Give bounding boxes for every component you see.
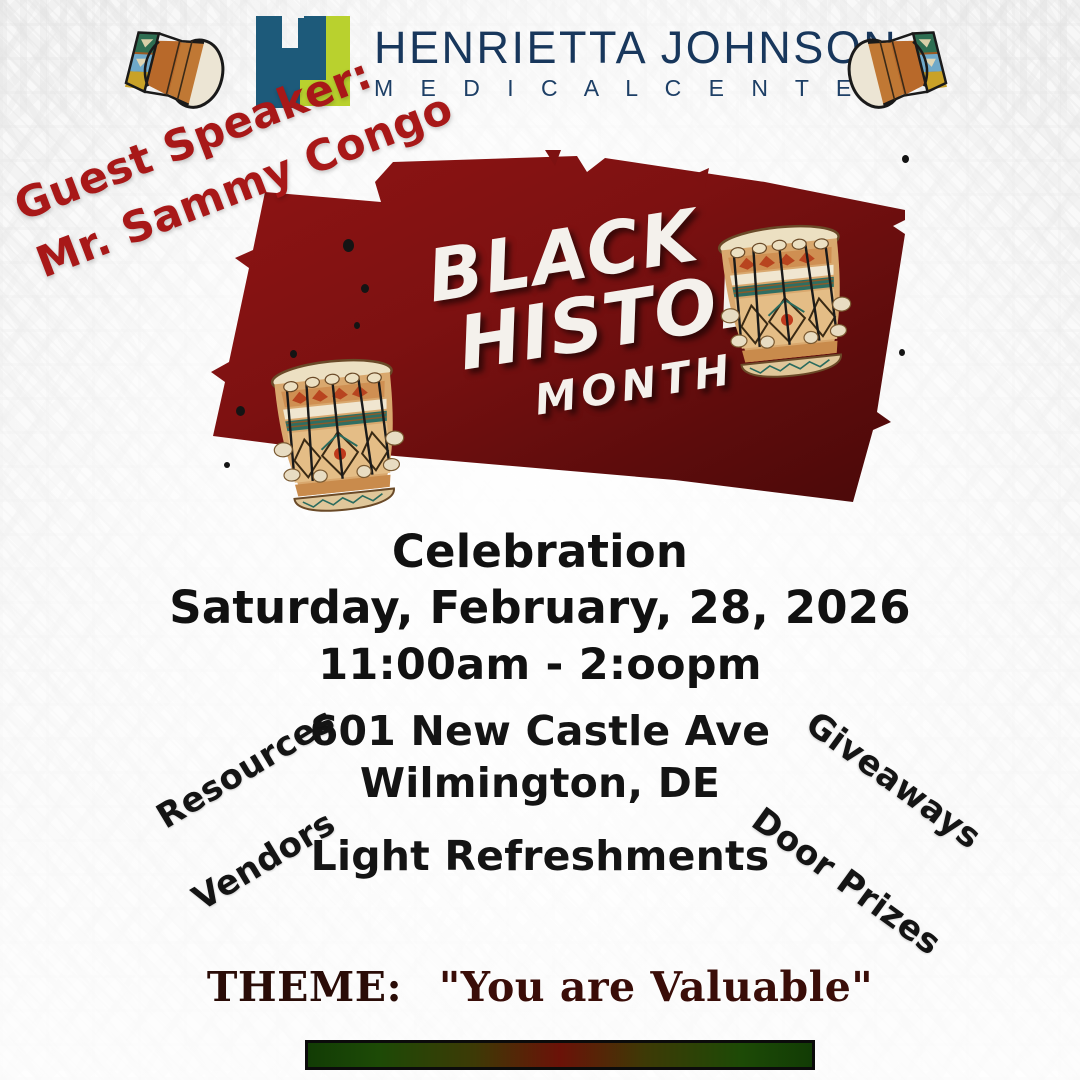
- tag-door-prizes: Door Prizes: [744, 800, 948, 964]
- bottom-accent-bar: [305, 1040, 815, 1070]
- logo-organization-subtitle: M E D I C A L C E N T E R: [374, 77, 906, 100]
- ornate-drum-icon: [250, 344, 426, 525]
- refreshments-note: Light Refreshments: [0, 832, 1080, 880]
- theme-row: THEME: "You are Valuable": [0, 963, 1080, 1011]
- logo-organization-name: HENRIETTA JOHNSON: [374, 25, 906, 70]
- theme-quote: "You are Valuable": [439, 963, 873, 1011]
- paint-splatter-dot: [224, 462, 230, 468]
- event-heading: Celebration: [0, 528, 1080, 577]
- address-street: 601 New Castle Ave: [0, 705, 1080, 757]
- event-details: Celebration Saturday, February, 28, 2026…: [0, 528, 1080, 692]
- paint-splatter-dot: [236, 406, 245, 416]
- paint-splatter-dot: [343, 239, 354, 252]
- paint-splatter-dot: [354, 322, 360, 329]
- flyer-canvas: HENRIETTA JOHNSON M E D I C A L C E N T …: [0, 0, 1080, 1080]
- paint-splatter-dot: [899, 349, 905, 356]
- theme-label: THEME:: [207, 963, 402, 1011]
- event-time: 11:00am - 2:oopm: [0, 639, 1080, 691]
- paint-splatter-dot: [902, 155, 909, 163]
- paint-splatter-dot: [361, 284, 369, 293]
- header: HENRIETTA JOHNSON M E D I C A L C E N T …: [0, 0, 1080, 130]
- event-date: Saturday, February, 28, 2026: [0, 581, 1080, 636]
- ornate-drum-icon: [697, 210, 873, 391]
